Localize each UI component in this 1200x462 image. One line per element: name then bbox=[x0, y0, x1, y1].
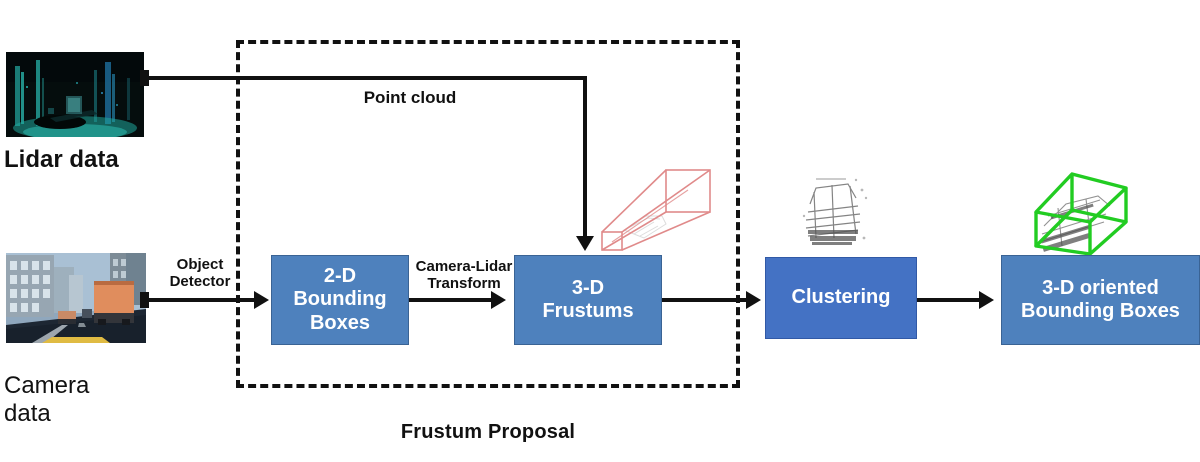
box-frustums-line-1: 3-D bbox=[542, 277, 633, 300]
box-3d-frustums[interactable]: 3-D Frustums bbox=[514, 255, 662, 345]
object-detector-label: Object Detector bbox=[155, 256, 245, 291]
lidar-to-frustums-horizontal-line bbox=[144, 76, 587, 80]
oriented-bounding-box-illustration bbox=[1014, 162, 1144, 258]
frustums-to-clustering-arrowhead bbox=[746, 291, 761, 309]
frustum-wireframe-illustration bbox=[588, 158, 718, 258]
camera-to-2d-line bbox=[146, 298, 256, 302]
box-2d-line-2: Bounding bbox=[293, 288, 386, 311]
box-3d-oriented-bounding-boxes[interactable]: 3-D oriented Bounding Boxes bbox=[1001, 255, 1200, 345]
frustum-proposal-caption: Frustum Proposal bbox=[236, 421, 740, 444]
box-oriented-line-1: 3-D oriented bbox=[1021, 277, 1180, 300]
camera-data-caption: Camera data bbox=[4, 372, 154, 429]
lidar-point-cloud-graphic bbox=[6, 52, 144, 137]
box-oriented-line-2: Bounding Boxes bbox=[1021, 300, 1180, 323]
clustered-point-cloud-illustration bbox=[786, 168, 896, 256]
street-scene-graphic bbox=[6, 253, 146, 343]
box-2d-line-1: 2-D bbox=[293, 265, 386, 288]
camera-data-image bbox=[6, 253, 146, 343]
box-frustums-line-2: Frustums bbox=[542, 300, 633, 323]
lidar-line-source-stub bbox=[140, 70, 149, 86]
camera-lidar-transform-label: Camera-Lidar Transform bbox=[408, 258, 520, 293]
point-cloud-label: Point cloud bbox=[300, 88, 520, 108]
lidar-data-caption: Lidar data bbox=[4, 146, 119, 174]
box-clustering-line-1: Clustering bbox=[792, 286, 891, 309]
clustering-to-oriented-arrowhead bbox=[979, 291, 994, 309]
point-cloud-vertical-line bbox=[583, 76, 587, 238]
diagram-canvas: Frustum Proposal bbox=[0, 0, 1200, 462]
2d-to-frustums-line bbox=[409, 298, 493, 302]
object-detector-arrowhead bbox=[254, 291, 269, 309]
frustums-to-clustering-line bbox=[662, 298, 748, 302]
box-clustering[interactable]: Clustering bbox=[765, 257, 917, 339]
box-2d-bounding-boxes[interactable]: 2-D Bounding Boxes bbox=[271, 255, 409, 345]
lidar-data-image bbox=[6, 52, 144, 137]
box-2d-line-3: Boxes bbox=[293, 312, 386, 335]
clustering-to-oriented-line bbox=[917, 298, 981, 302]
camera-lidar-transform-arrowhead bbox=[491, 291, 506, 309]
